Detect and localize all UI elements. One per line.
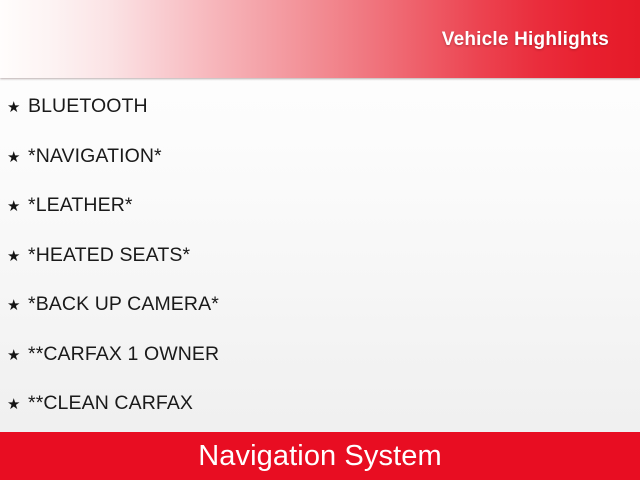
highlight-label: **CLEAN CARFAX <box>28 379 193 429</box>
highlight-label: BLUETOOTH <box>28 82 148 132</box>
vehicle-highlights-list: ★BLUETOOTH ★*NAVIGATION* ★*LEATHER* ★*HE… <box>0 82 640 429</box>
highlight-label: *HEATED SEATS* <box>28 231 190 281</box>
page-title: Vehicle Highlights <box>442 29 609 51</box>
list-item: ★BLUETOOTH <box>0 82 640 132</box>
vehicle-highlights-slide: Vehicle Highlights ★BLUETOOTH ★*NAVIGATI… <box>0 0 640 480</box>
star-icon: ★ <box>7 83 28 133</box>
list-item: ★*NAVIGATION* <box>0 132 640 182</box>
list-item: ★**CLEAN CARFAX <box>0 379 640 429</box>
header-banner: Vehicle Highlights <box>0 0 640 78</box>
list-item: ★*HEATED SEATS* <box>0 231 640 281</box>
footer-banner: Navigation System <box>0 432 640 480</box>
list-item: ★*LEATHER* <box>0 181 640 231</box>
star-icon: ★ <box>7 380 28 430</box>
highlight-label: *BACK UP CAMERA* <box>28 280 219 330</box>
list-item: ★**CARFAX 1 OWNER <box>0 330 640 380</box>
star-icon: ★ <box>7 182 28 232</box>
star-icon: ★ <box>7 232 28 282</box>
star-icon: ★ <box>7 331 28 381</box>
highlight-label: **CARFAX 1 OWNER <box>28 330 219 380</box>
star-icon: ★ <box>7 133 28 183</box>
highlight-label: *NAVIGATION* <box>28 132 162 182</box>
star-icon: ★ <box>7 281 28 331</box>
highlight-label: *LEATHER* <box>28 181 133 231</box>
list-item: ★*BACK UP CAMERA* <box>0 280 640 330</box>
footer-caption: Navigation System <box>198 440 441 473</box>
